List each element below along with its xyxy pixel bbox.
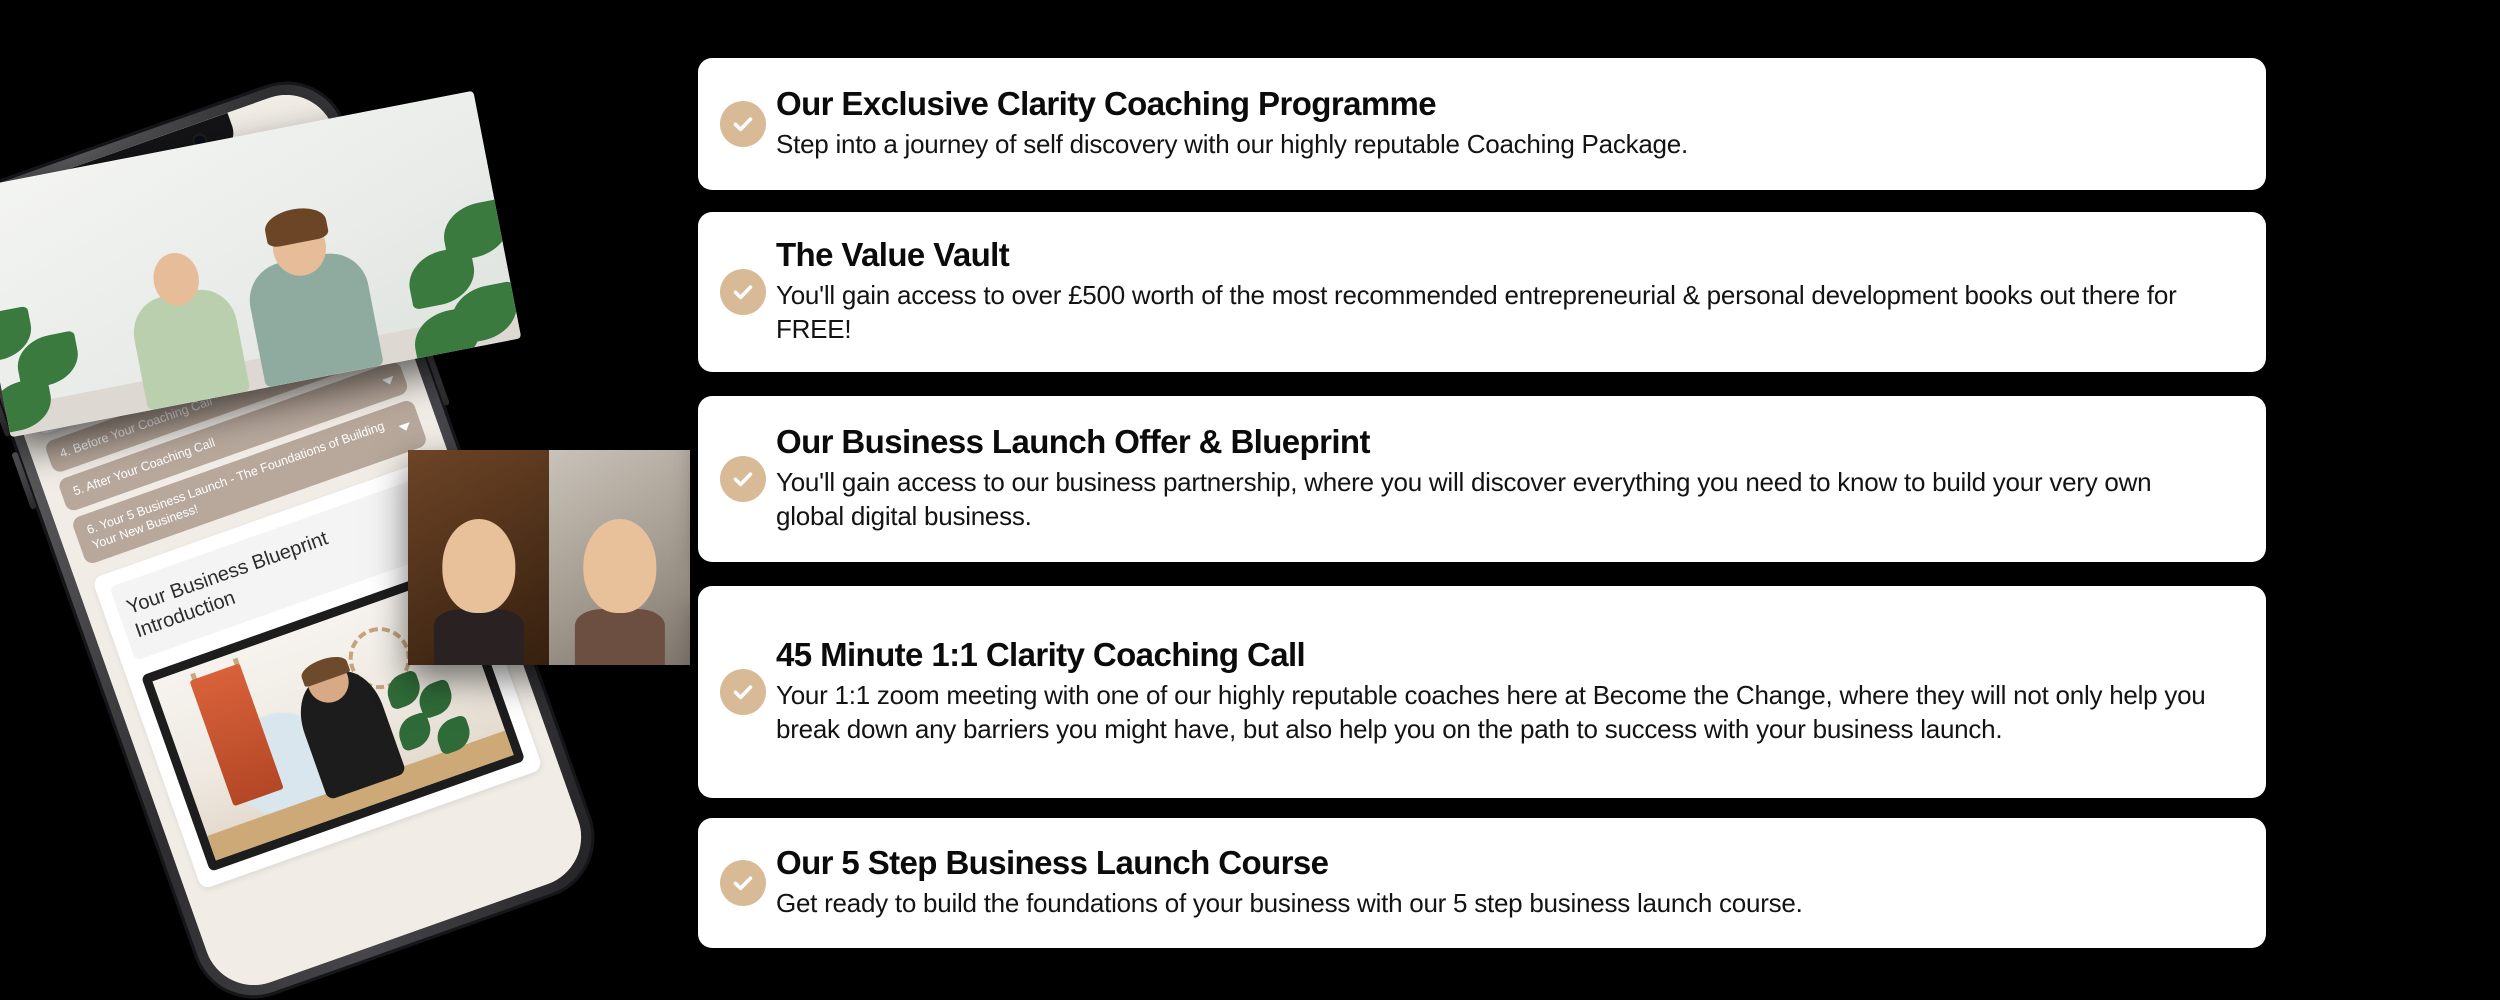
participant-torso — [433, 609, 523, 665]
benefit-title: Our Business Launch Offer & Blueprint — [776, 424, 2226, 461]
benefit-card-list: Our Exclusive Clarity Coaching Programme… — [698, 0, 2278, 1000]
benefit-description: Get ready to build the foundations of yo… — [776, 886, 2216, 921]
benefit-card[interactable]: Our Exclusive Clarity Coaching Programme… — [698, 58, 2266, 190]
benefit-description: Step into a journey of self discovery wi… — [776, 127, 2216, 162]
page-root: 3. Your Business Blueprint Introducing o… — [0, 0, 2500, 1000]
check-circle-icon — [720, 269, 766, 315]
benefit-title: The Value Vault — [776, 237, 2226, 274]
benefit-card[interactable]: 45 Minute 1:1 Clarity Coaching Call Your… — [698, 586, 2266, 798]
decorative-curtain — [189, 663, 284, 806]
benefit-description: You'll gain access to over £500 worth of… — [776, 278, 2216, 347]
participant-head — [442, 519, 515, 614]
chevron-down-icon — [382, 376, 396, 387]
participant-head — [583, 519, 656, 614]
call-participant-right — [549, 450, 690, 665]
check-circle-icon — [720, 456, 766, 502]
benefit-title: 45 Minute 1:1 Clarity Coaching Call — [776, 637, 2226, 674]
call-participant-left — [408, 450, 549, 665]
chevron-down-icon — [398, 422, 412, 433]
check-circle-icon — [720, 101, 766, 147]
benefit-title: Our Exclusive Clarity Coaching Programme — [776, 86, 2226, 123]
presenter-woman-body — [128, 283, 251, 410]
check-circle-icon — [720, 860, 766, 906]
benefit-card[interactable]: The Value Vault You'll gain access to ov… — [698, 212, 2266, 372]
participant-torso — [574, 609, 664, 665]
benefit-card[interactable]: Our 5 Step Business Launch Course Get re… — [698, 818, 2266, 948]
video-thumbnail-coaching-call[interactable] — [408, 450, 690, 665]
check-circle-icon — [720, 669, 766, 715]
benefit-card[interactable]: Our Business Launch Offer & Blueprint Yo… — [698, 396, 2266, 562]
device-mockup-composition: 3. Your Business Blueprint Introducing o… — [0, 0, 720, 1000]
benefit-description: Your 1:1 zoom meeting with one of our hi… — [776, 678, 2216, 747]
benefit-title: Our 5 Step Business Launch Course — [776, 845, 2226, 882]
benefit-description: You'll gain access to our business partn… — [776, 465, 2216, 534]
